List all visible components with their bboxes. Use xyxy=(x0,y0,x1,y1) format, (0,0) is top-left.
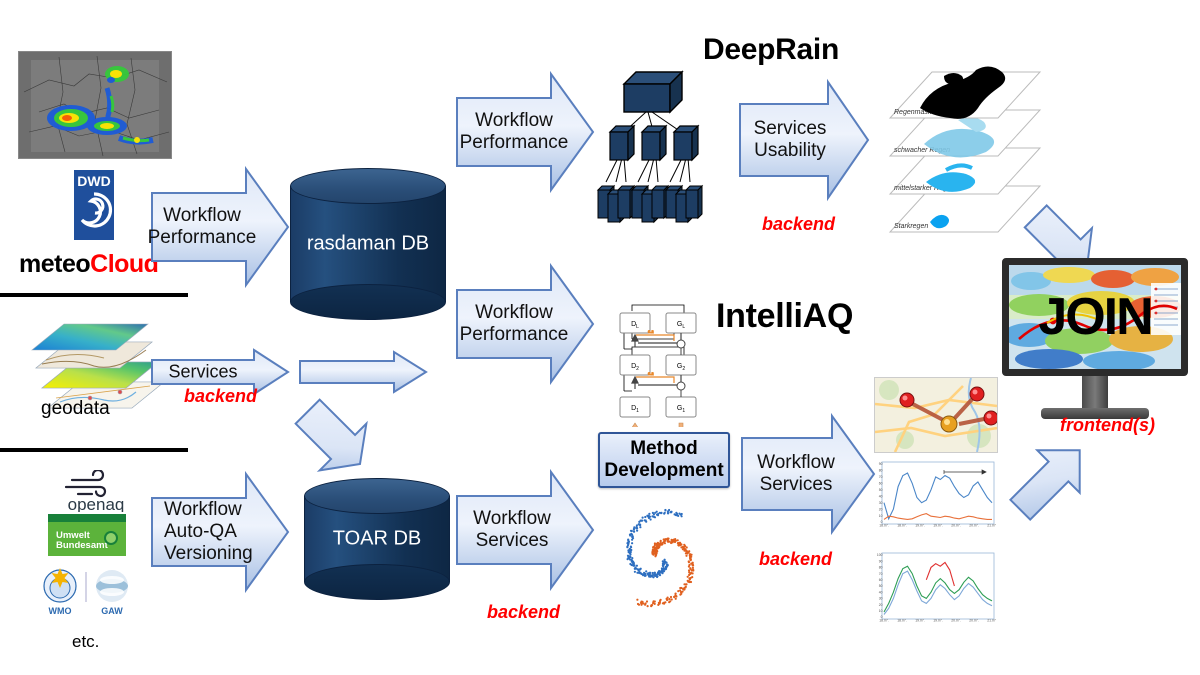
svg-text:19.07.: 19.07. xyxy=(915,619,924,623)
arrow-workflow-autoqa-versioning: WorkflowAuto-QAVersioning xyxy=(150,470,290,594)
svg-text:20: 20 xyxy=(879,507,883,511)
db-bottom xyxy=(304,564,450,600)
svg-text:18.07.: 18.07. xyxy=(879,619,888,623)
wmo-gaw-logos: WMO GAW xyxy=(34,566,138,618)
two-spiral-classification-scatter: {} xyxy=(600,502,720,614)
meteocloud-wordmark: meteoCloud xyxy=(19,250,158,279)
svg-text:80: 80 xyxy=(879,469,883,473)
progressive-gan-architecture-diagram: DL GL D2 G2 D1 G1 0.20.2 xyxy=(614,303,702,427)
backend-label-toar: backend xyxy=(487,602,560,623)
svg-text:60: 60 xyxy=(879,578,883,582)
svg-text:60: 60 xyxy=(879,482,883,486)
openaq-label: openaq xyxy=(68,495,125,512)
svg-text:70: 70 xyxy=(879,572,883,576)
etc-label: etc. xyxy=(72,632,99,652)
svg-text:10: 10 xyxy=(879,514,883,518)
svg-text:21.07.: 21.07. xyxy=(987,619,996,623)
geodata-caption: geodata xyxy=(41,398,110,420)
toar-db-label: TOAR DB xyxy=(304,528,450,551)
svg-text:Bundesamt: Bundesamt xyxy=(56,540,109,551)
layer-label: Starkregen xyxy=(894,223,928,230)
arrow-services-usability: ServicesUsability xyxy=(738,78,870,202)
svg-text:100: 100 xyxy=(877,553,883,557)
monitor-stand-neck xyxy=(1082,376,1108,410)
db-bottom xyxy=(290,284,446,320)
method-development-box[interactable]: Method Development xyxy=(598,432,730,488)
svg-text:50: 50 xyxy=(879,584,883,588)
svg-text:20: 20 xyxy=(879,603,883,607)
svg-text:40: 40 xyxy=(879,590,883,594)
arrow-diagonal-results-to-monitor xyxy=(1000,430,1100,530)
backend-label-results: backend xyxy=(759,549,832,570)
join-web-portal-monitor: JOIN xyxy=(1002,258,1188,423)
svg-text:80: 80 xyxy=(879,566,883,570)
svg-text:18.07.: 18.07. xyxy=(897,524,906,528)
svg-text:19.07.: 19.07. xyxy=(933,524,942,528)
umweltbundesamt-logo: Umwelt Bundesamt xyxy=(48,514,126,556)
intelliaq-title: IntelliAQ xyxy=(716,297,853,336)
svg-text:21.07.: 21.07. xyxy=(987,524,996,528)
station-network-map-with-arrows xyxy=(874,377,998,453)
divider-2 xyxy=(0,448,188,452)
arrow-workflow-services-results: WorkflowServices xyxy=(740,412,876,536)
svg-text:18.07.: 18.07. xyxy=(879,524,888,528)
svg-text:0.2: 0.2 xyxy=(648,329,654,334)
frontends-label: frontend(s) xyxy=(1060,415,1155,436)
svg-text:DWD: DWD xyxy=(77,173,110,189)
svg-text:10: 10 xyxy=(879,609,883,613)
server-cluster-tree xyxy=(596,62,712,234)
arrow-workflow-performance-2: WorkflowPerformance xyxy=(455,70,595,194)
db-top xyxy=(290,168,446,204)
arrow-diagonal-down-to-toar xyxy=(276,380,386,490)
openaq-logo: openaq xyxy=(48,470,144,512)
svg-text:19.07.: 19.07. xyxy=(933,619,942,623)
rasdaman-db-label: rasdaman DB xyxy=(290,233,446,256)
arrow-workflow-performance-1: WorkflowPerformance xyxy=(150,165,290,289)
timeseries-chart-green-red: 0102030405060708090100 18.07.18.07.19.07… xyxy=(868,551,996,635)
db-top xyxy=(304,478,450,514)
svg-text:30: 30 xyxy=(879,501,883,505)
dwd-radar-precipitation-map xyxy=(18,51,172,159)
backend-label-usability: backend xyxy=(762,214,835,235)
meteocloud-suffix: Cloud xyxy=(90,250,158,278)
svg-text:19.07.: 19.07. xyxy=(915,524,924,528)
svg-text:WMO: WMO xyxy=(49,606,72,616)
method-box-line1: Method xyxy=(604,438,723,460)
arrow-workflow-services-toar: WorkflowServices xyxy=(455,468,595,592)
rasdaman-database: rasdaman DB xyxy=(290,168,446,320)
svg-text:18.07.: 18.07. xyxy=(897,619,906,623)
monitor-screen: JOIN xyxy=(1002,258,1188,376)
svg-text:20.07.: 20.07. xyxy=(951,524,960,528)
svg-text:40: 40 xyxy=(879,494,883,498)
timeseries-chart-blue-orange: 0102030405060708090 18.07.18.07.19.07.19… xyxy=(868,460,996,540)
svg-text:0.2: 0.2 xyxy=(648,371,654,376)
method-box-line2: Development xyxy=(604,460,723,482)
arrow-workflow-performance-3: WorkflowPerformance xyxy=(455,262,595,386)
svg-text:30: 30 xyxy=(879,597,883,601)
meteocloud-prefix: meteo xyxy=(19,250,90,278)
dwd-logo: DWD xyxy=(66,170,122,240)
svg-text:50: 50 xyxy=(879,488,883,492)
svg-text:70: 70 xyxy=(879,475,883,479)
svg-text:90: 90 xyxy=(879,462,883,466)
svg-text:GAW: GAW xyxy=(101,606,123,616)
svg-text:20.07.: 20.07. xyxy=(969,619,978,623)
deeprain-title: DeepRain xyxy=(703,33,839,67)
svg-text:20.07.: 20.07. xyxy=(969,524,978,528)
join-logo-text: JOIN xyxy=(1009,287,1181,347)
divider-1 xyxy=(0,293,188,297)
svg-text:20.07.: 20.07. xyxy=(951,619,960,623)
backend-label-services: backend xyxy=(184,386,257,407)
toar-database: TOAR DB xyxy=(304,478,450,600)
svg-text:90: 90 xyxy=(879,559,883,563)
